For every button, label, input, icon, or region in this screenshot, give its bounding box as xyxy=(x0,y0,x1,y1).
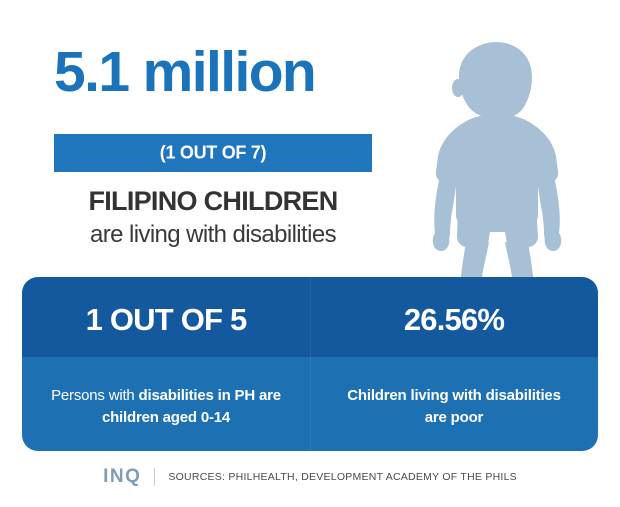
stats-panel-captions-row: Persons with disabilities in PH are chil… xyxy=(22,357,598,451)
infographic-canvas: 5.1 million (1 OUT OF 7) FILIPINO CHILDR… xyxy=(0,0,620,507)
column-divider xyxy=(310,277,311,357)
stat-card-right-value: 26.56% xyxy=(310,277,598,357)
column-divider-lower xyxy=(310,357,311,451)
footer-sources-text: SOURCES: PHILHEALTH, DEVELOPMENT ACADEMY… xyxy=(168,471,517,483)
stats-panel: 1 OUT OF 5 26.56% Persons with disabilit… xyxy=(22,277,598,451)
subhead-secondary: are living with disabilities xyxy=(54,221,372,249)
stat-card-left-caption: Persons with disabilities in PH are chil… xyxy=(22,357,310,451)
subhead-primary: FILIPINO CHILDREN xyxy=(54,186,372,217)
ratio-badge-label: (1 OUT OF 7) xyxy=(54,143,372,164)
stat-caption-right: Children living with disabilities are po… xyxy=(310,385,598,429)
footer-divider xyxy=(154,468,155,486)
footer: INQ SOURCES: PHILHEALTH, DEVELOPMENT ACA… xyxy=(0,466,620,488)
child-silhouette-icon xyxy=(433,42,562,298)
hero-headline: 5.1 million xyxy=(54,44,384,101)
stat-caption-left: Persons with disabilities in PH are chil… xyxy=(22,385,310,429)
stat-card-right-caption: Children living with disabilities are po… xyxy=(310,357,598,451)
child-silhouette-illustration xyxy=(398,28,588,298)
stat-card-left-value: 1 OUT OF 5 xyxy=(22,277,310,357)
ratio-badge-bar: (1 OUT OF 7) xyxy=(54,134,372,172)
inq-logo: INQ xyxy=(103,466,141,488)
stat-value-right: 26.56% xyxy=(404,302,504,338)
stats-panel-values-row: 1 OUT OF 5 26.56% xyxy=(22,277,598,357)
stat-value-left: 1 OUT OF 5 xyxy=(86,302,247,338)
